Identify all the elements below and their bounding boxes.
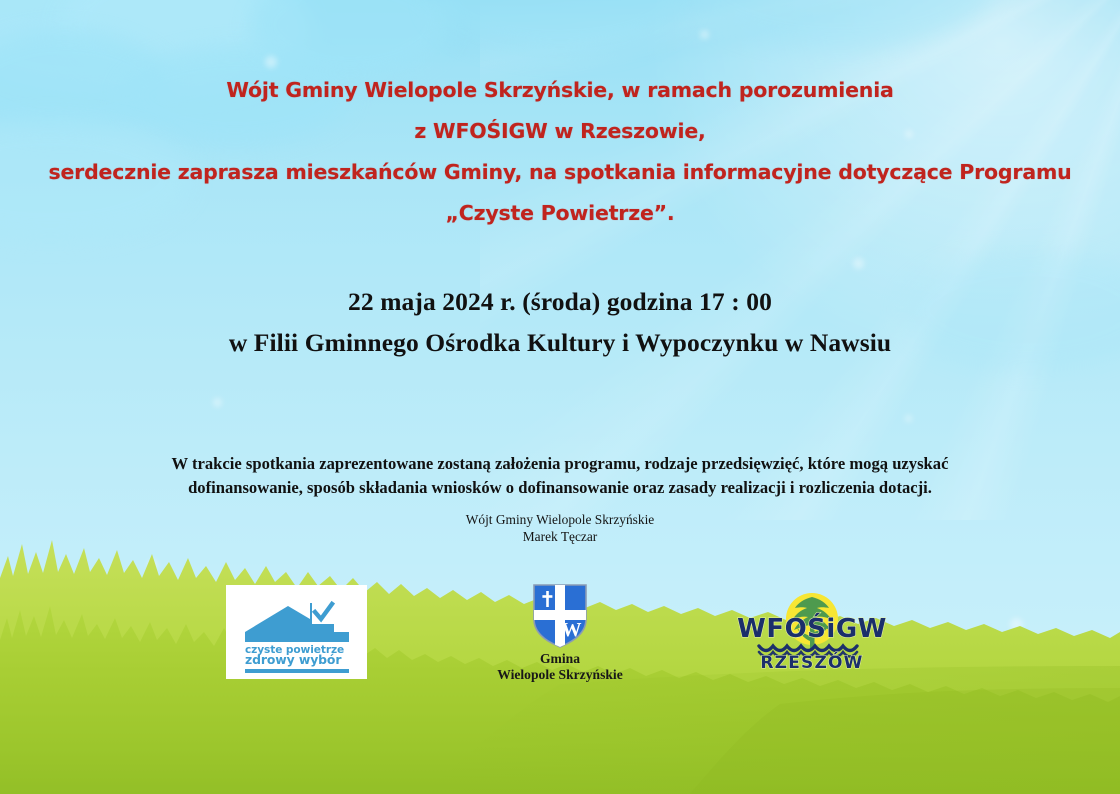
body-note-line-2: dofinansowanie, sposób składania wnioskó…: [0, 476, 1120, 500]
body-note-line-1: W trakcie spotkania zaprezentowane zosta…: [0, 452, 1120, 476]
shield-wrap: W: [456, 583, 664, 649]
headline-line-1: Wójt Gminy Wielopole Skrzyńskie, w ramac…: [0, 70, 1120, 111]
event-venue: w Filii Gminnego Ośrodka Kultury i Wypoc…: [0, 322, 1120, 363]
shield-cross-w-icon: W: [532, 583, 588, 649]
headline-block: Wójt Gminy Wielopole Skrzyńskie, w ramac…: [0, 70, 1120, 234]
wfosigw-acronym: WFOŚiGW: [737, 612, 887, 644]
wfosigw-city: RZESZÓW: [760, 651, 863, 672]
poster-canvas: Wójt Gminy Wielopole Skrzyńskie, w ramac…: [0, 0, 1120, 794]
sun-tree-water-icon: WFOŚiGW RZESZÓW: [724, 592, 900, 672]
headline-line-4: „Czyste Powietrze”.: [0, 193, 1120, 234]
wfosigw-rzeszow-logo: WFOŚiGW RZESZÓW: [724, 592, 900, 672]
gmina-caption-line-2: Wielopole Skrzyńskie: [456, 667, 664, 683]
czyste-powietrze-logo: czyste powietrze zdrowy wybór: [226, 585, 367, 679]
signature-name: Marek Tęczar: [0, 529, 1120, 546]
gmina-coat-of-arms: W Gmina Wielopole Skrzyńskie: [456, 583, 664, 683]
gmina-caption: Gmina Wielopole Skrzyńskie: [456, 651, 664, 682]
czyste-powietrze-underline: [245, 669, 349, 673]
gmina-caption-line-1: Gmina: [456, 651, 664, 667]
headline-line-3: serdecznie zaprasza mieszkańców Gminy, n…: [0, 152, 1120, 193]
house-with-checkmark-icon: czyste powietrze zdrowy wybór: [242, 598, 352, 668]
body-note-block: W trakcie spotkania zaprezentowane zosta…: [0, 452, 1120, 500]
signature-role: Wójt Gminy Wielopole Skrzyńskie: [0, 512, 1120, 529]
event-datetime: 22 maja 2024 r. (środa) godzina 17 : 00: [0, 281, 1120, 322]
headline-line-2: z WFOŚIGW w Rzeszowie,: [0, 111, 1120, 152]
svg-text:W: W: [562, 619, 582, 641]
event-details-block: 22 maja 2024 r. (środa) godzina 17 : 00 …: [0, 281, 1120, 363]
signature-block: Wójt Gminy Wielopole Skrzyńskie Marek Tę…: [0, 512, 1120, 545]
svg-text:zdrowy wybór: zdrowy wybór: [245, 652, 342, 667]
czyste-powietrze-logo-inner: czyste powietrze zdrowy wybór: [226, 585, 367, 679]
